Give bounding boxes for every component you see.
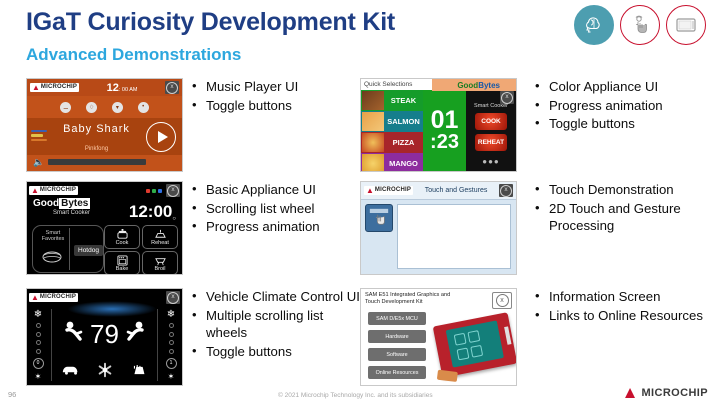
list-item: Music Player UI [190,78,360,96]
track-title: Baby Shark [63,123,130,135]
fan-icon[interactable]: ❄ [167,309,175,320]
right-level-value: 1 [166,358,177,369]
minus-icon[interactable]: ⚊ [60,102,71,113]
microchip-logo: ▲MICROCHIP [364,186,413,195]
list-item: Vehicle Climate Control UI [190,288,360,306]
sub-brand-label: Smart Cooker [53,210,90,216]
list-item[interactable]: PIZZA [361,132,423,153]
ac-fan-icon[interactable] [96,362,114,381]
progress-dots: ●●● [466,157,516,166]
screen-title: Touch and Gestures [425,187,488,194]
bullets-information: Information Screen Links to Online Resou… [533,288,718,325]
cook-button[interactable]: Cook [104,225,140,249]
mcu-link-button[interactable]: SAM D/E5x MCU [368,312,426,325]
basic-appliance-ui: ▲MICROCHIP x GoodBytes Smart Cooker 12:0… [27,182,182,274]
slide-number: 96 [8,390,16,399]
music-player-ui: ▲MICROCHIP 12: 00 AM x ⚊ ♢ ▾ • [27,79,182,171]
bullets-vehicle-climate: Vehicle Climate Control UI Multiple scro… [190,288,360,361]
smart-favorites-wheel[interactable]: Smart Favorites Hotdog [32,225,104,273]
right-seat-vent-icon[interactable] [122,319,148,350]
track-artist: Pinkfong [85,146,108,152]
list-item: Toggle buttons [190,343,360,361]
microchip-logo-footer: ▲ MICROCHIP [622,385,708,400]
bullets-color-appliance: Color Appliance UI Progress animation To… [533,78,718,134]
list-item: Touch Demonstration [533,181,718,199]
touch-hand-icon [620,5,660,45]
screen-title: SAM E51 Integrated Graphics and Touch De… [365,292,463,306]
list-item: Links to Online Resources [533,307,718,325]
online-resources-link-button[interactable]: Online Resources [368,366,426,379]
seat-heat-icon[interactable] [129,363,149,380]
close-icon[interactable]: x [166,291,180,304]
information-screen-ui: SAM E51 Integrated Graphics and Touch De… [361,289,516,385]
bake-button[interactable]: Bake [104,251,140,275]
bullets-basic-appliance: Basic Appliance UI Scrolling list wheel … [190,181,360,237]
info-icon[interactable]: • [138,102,149,113]
clock-display: 12: 00 AM [107,82,138,94]
drawing-canvas[interactable] [397,204,511,269]
track-info: Baby Shark Pinkfong [47,119,146,155]
demo-screenshot-information: SAM E51 Integrated Graphics and Touch De… [360,288,517,386]
list-item: Color Appliance UI [533,78,718,96]
food-thumbnail [362,112,384,131]
left-seat-vent-icon[interactable] [61,319,87,350]
list-item: Toggle buttons [533,115,718,133]
favorites-label: Smart Favorites [40,230,66,242]
page-subtitle: Advanced Demonstrations [26,45,241,65]
broil-button[interactable]: Broil [142,251,178,275]
list-item[interactable]: MANGO [361,153,423,172]
list-item: Toggle buttons [190,97,360,115]
software-link-button[interactable]: Software [368,348,426,361]
demo-screenshot-color-appliance: Quick Selections STEAK SALMON [360,78,517,172]
progress-bar[interactable] [48,159,146,165]
clock-display: 12:00○ [129,202,176,222]
touch-hand-icon[interactable] [365,204,393,232]
bluetooth-icon[interactable]: ♢ [86,102,97,113]
color-appliance-ui: Quick Selections STEAK SALMON [361,79,516,171]
microchip-mark-icon: ▲ [622,385,639,400]
display-screen-icon [666,5,706,45]
demo-screenshot-touch-gestures: ▲MICROCHIP Touch and Gestures x [360,181,517,275]
status-icon-row: ⚊ ♢ ▾ • [27,96,182,118]
list-item: Scrolling list wheel [190,200,360,218]
right-fan-wheel[interactable]: ❄ 1 ✶ [160,307,182,383]
favorite-value[interactable]: Hotdog [74,245,103,256]
brand-label: GoodBytes [33,198,90,209]
hardware-link-button[interactable]: Hardware [368,330,426,343]
cook-button[interactable]: COOK [475,113,507,130]
now-playing-bar: Baby Shark Pinkfong [27,118,182,155]
microchip-logo: ▲MICROCHIP [29,186,78,195]
microchip-logo: ▲MICROCHIP [29,293,78,302]
food-thumbnail [362,91,384,110]
fan-icon[interactable]: ❄ [34,309,42,320]
play-button[interactable] [146,122,176,152]
control-panel: GoodBytes x Smart Cooker COOK REHEAT ●●● [466,90,516,171]
car-defrost-icon[interactable] [61,363,81,379]
microchip-logo: ▲MICROCHIP [30,83,79,92]
touch-gestures-ui: ▲MICROCHIP Touch and Gestures x [361,182,516,274]
equalizer-icon[interactable] [31,130,47,144]
snowflake-icon[interactable]: ✶ [35,372,42,381]
music-player-titlebar: ▲MICROCHIP 12: 00 AM x [27,79,182,96]
reheat-button[interactable]: REHEAT [475,134,507,151]
list-item: Information Screen [533,288,718,306]
food-thumbnail [362,133,384,152]
volume-icon[interactable]: 🔈 [33,157,44,168]
demo-screenshot-basic-appliance: ▲MICROCHIP x GoodBytes Smart Cooker 12:0… [26,181,183,275]
bullets-music-player: Music Player UI Toggle buttons [190,78,360,115]
brain-head-icon [574,5,614,45]
demo-screenshot-vehicle-climate: ▲MICROCHIP x ❄ 0 ✶ 79 [26,288,183,386]
left-fan-wheel[interactable]: ❄ 0 ✶ [27,307,49,383]
temperature-value: 79 [90,319,119,350]
close-icon[interactable]: x [500,91,514,104]
status-dots [146,189,162,193]
bullets-touch-gestures: Touch Demonstration 2D Touch and Gesture… [533,181,718,236]
list-item[interactable]: STEAK [361,90,423,111]
list-item: Basic Appliance UI [190,181,360,199]
volume-row: 🔈 [27,155,182,169]
wifi-icon[interactable]: ▾ [112,102,123,113]
close-icon[interactable]: x [492,292,512,309]
snowflake-icon[interactable]: ✶ [168,372,175,381]
list-item: Progress animation [190,218,360,236]
list-item: Multiple scrolling list wheels [190,307,360,342]
slide: IGaT Curiosity Development Kit Advanced … [0,0,720,405]
link-button-list: SAM D/E5x MCU Hardware Software Online R… [368,312,426,384]
brand-banner: GoodBytes [432,79,516,91]
mode-button-grid: Cook Reheat Bake Broil [104,225,178,275]
copyright-text: © 2021 Microchip Technology Inc. and its… [278,392,433,399]
timer-display: 01 :23 [423,90,466,171]
badge-group [574,5,706,45]
development-board-photo [433,312,517,378]
list-item[interactable]: SALMON [361,111,423,132]
vehicle-climate-ui: ▲MICROCHIP x ❄ 0 ✶ 79 [27,289,182,385]
close-icon[interactable]: x [165,81,179,94]
page-title: IGaT Curiosity Development Kit [26,8,395,37]
food-thumbnail [362,154,384,172]
close-icon[interactable]: x [499,184,513,197]
left-level-value: 0 [33,358,44,369]
list-item: 2D Touch and Gesture Processing [533,200,718,235]
food-list[interactable]: STEAK SALMON PIZZA MANGO [361,90,423,171]
list-item: Progress animation [533,97,718,115]
close-icon[interactable]: x [166,184,180,197]
climate-toggle-row [53,359,156,383]
demo-screenshot-music-player: ▲MICROCHIP 12: 00 AM x ⚊ ♢ ▾ • [26,78,183,172]
reheat-button[interactable]: Reheat [142,225,178,249]
